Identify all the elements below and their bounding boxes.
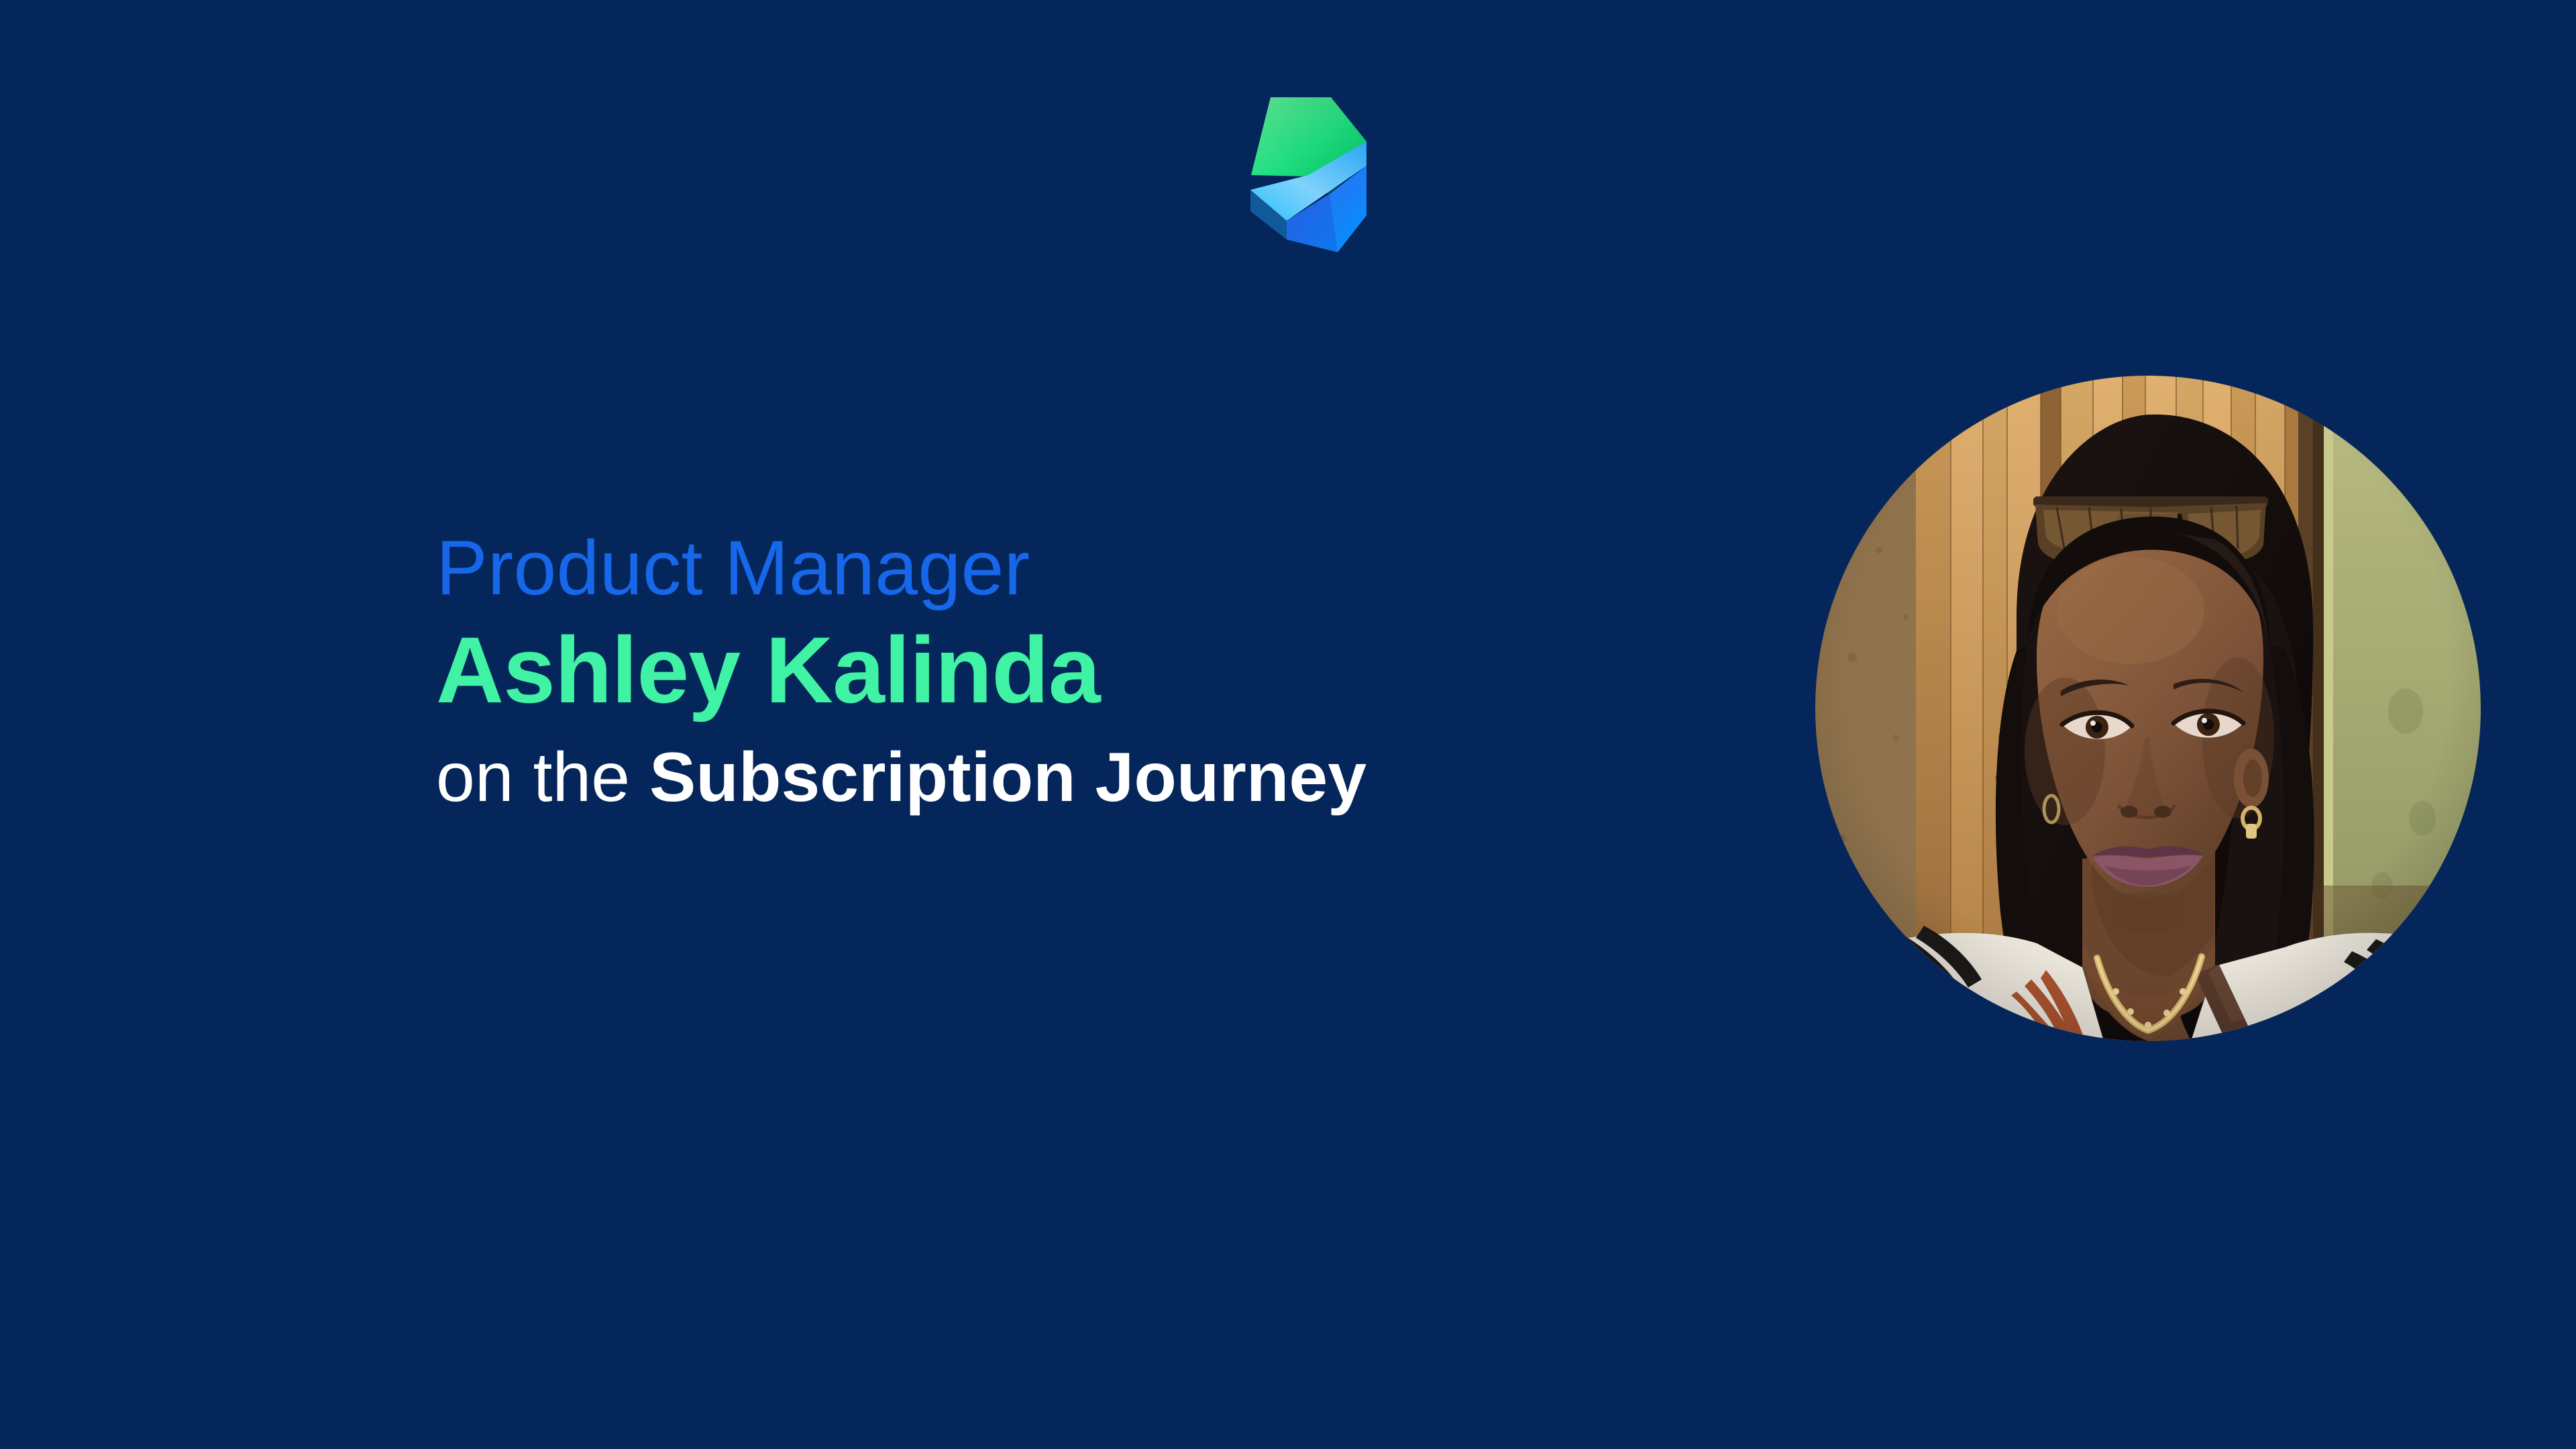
portrait-photo-illustration	[1815, 376, 2481, 1041]
headline-block: Product Manager Ashley Kalinda on the Su…	[436, 530, 1778, 812]
chevron-logo-icon	[1249, 96, 1366, 254]
person-name: Ashley Kalinda	[436, 623, 1778, 717]
brand-logo[interactable]	[1249, 96, 1366, 254]
promo-card-canvas: Product Manager Ashley Kalinda on the Su…	[0, 0, 2576, 1449]
portrait-avatar	[1815, 376, 2481, 1041]
topic-prefix: on the	[436, 739, 649, 816]
topic-line: on the Subscription Journey	[436, 743, 1778, 812]
role-title: Product Manager	[436, 530, 1778, 607]
topic-emphasis: Subscription Journey	[649, 739, 1366, 816]
